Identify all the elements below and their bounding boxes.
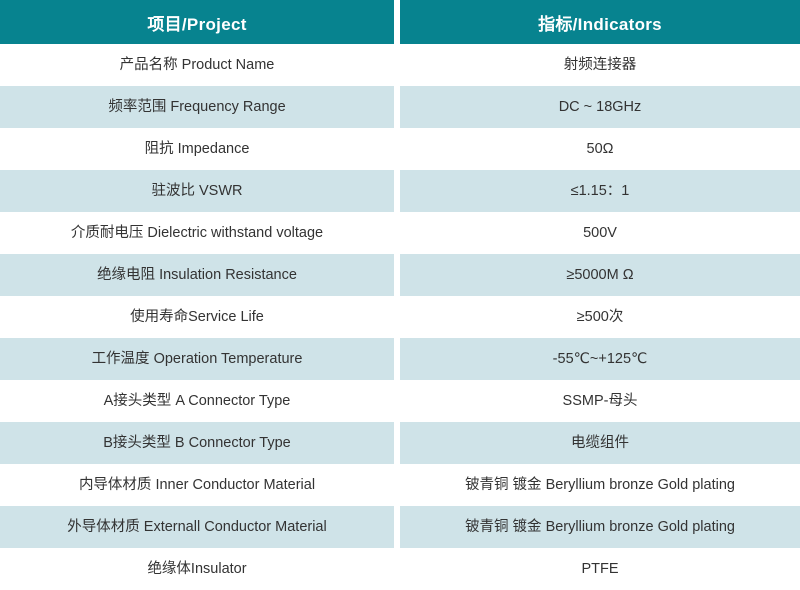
cell-indicator: 50Ω [400,128,800,170]
table-row: 驻波比 VSWR≤1.15：1 [0,170,800,212]
cell-project: 产品名称 Product Name [0,44,394,86]
cell-project: 驻波比 VSWR [0,170,394,212]
table-row: B接头类型 B Connector Type电缆组件 [0,422,800,464]
table-row: 绝缘电阻 Insulation Resistance≥5000M Ω [0,254,800,296]
table-header-row: 项目/Project 指标/Indicators [0,0,800,44]
table-row: 外导体材质 Externall Conductor Material铍青铜 镀金… [0,506,800,548]
table-row: 频率范围 Frequency RangeDC ~ 18GHz [0,86,800,128]
cell-indicator: ≥5000M Ω [400,254,800,296]
cell-indicator: ≥500次 [400,296,800,338]
cell-indicator: DC ~ 18GHz [400,86,800,128]
cell-indicator: -55℃~+125℃ [400,338,800,380]
cell-indicator: 500V [400,212,800,254]
table-row: 介质耐电压 Dielectric withstand voltage500V [0,212,800,254]
specification-table: 项目/Project 指标/Indicators 产品名称 Product Na… [0,0,800,590]
cell-project: 使用寿命Service Life [0,296,394,338]
table-row: 内导体材质 Inner Conductor Material铍青铜 镀金 Ber… [0,464,800,506]
cell-indicator: PTFE [400,548,800,590]
cell-project: 内导体材质 Inner Conductor Material [0,464,394,506]
cell-project: 阻抗 Impedance [0,128,394,170]
cell-project: 介质耐电压 Dielectric withstand voltage [0,212,394,254]
table-row: 绝缘体InsulatorPTFE [0,548,800,590]
cell-indicator: 射频连接器 [400,44,800,86]
table-row: 产品名称 Product Name射频连接器 [0,44,800,86]
cell-indicator: 电缆组件 [400,422,800,464]
cell-project: 绝缘电阻 Insulation Resistance [0,254,394,296]
cell-project: 绝缘体Insulator [0,548,394,590]
column-header-indicators: 指标/Indicators [400,0,800,44]
cell-project: B接头类型 B Connector Type [0,422,394,464]
cell-project: 频率范围 Frequency Range [0,86,394,128]
column-header-project: 项目/Project [0,0,394,44]
table-body: 产品名称 Product Name射频连接器频率范围 Frequency Ran… [0,44,800,590]
cell-project: 外导体材质 Externall Conductor Material [0,506,394,548]
cell-indicator: SSMP-母头 [400,380,800,422]
cell-project: 工作温度 Operation Temperature [0,338,394,380]
table-row: 使用寿命Service Life≥500次 [0,296,800,338]
cell-project: A接头类型 A Connector Type [0,380,394,422]
table-row: 工作温度 Operation Temperature-55℃~+125℃ [0,338,800,380]
table-row: 阻抗 Impedance50Ω [0,128,800,170]
cell-indicator: 铍青铜 镀金 Beryllium bronze Gold plating [400,506,800,548]
table-row: A接头类型 A Connector TypeSSMP-母头 [0,380,800,422]
cell-indicator: ≤1.15：1 [400,170,800,212]
cell-indicator: 铍青铜 镀金 Beryllium bronze Gold plating [400,464,800,506]
